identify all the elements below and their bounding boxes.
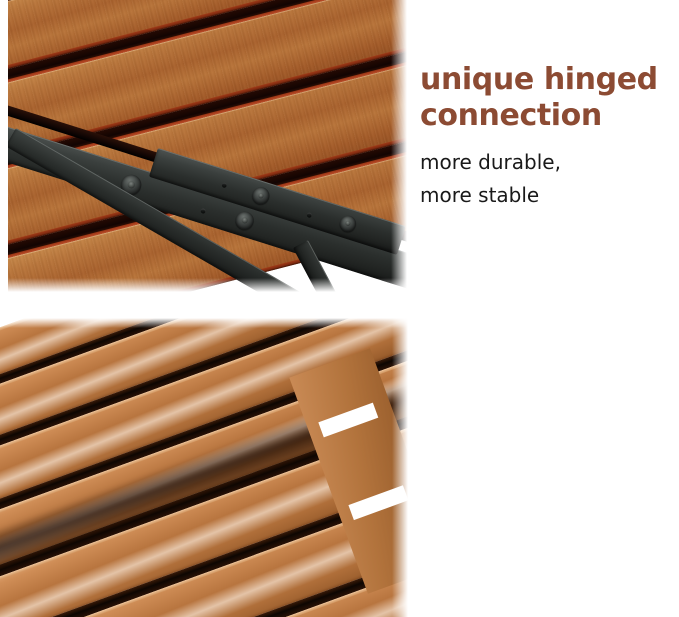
rail-bolt-hole [221, 182, 227, 188]
rail-bolt-hole [200, 208, 206, 214]
hinge-pivot-joint [233, 209, 256, 232]
copper-slat-scene [0, 318, 408, 617]
bungee-cord-panel: other products bungee cord connection [0, 318, 679, 617]
hinged-connection-text: unique hinged connection more durable, m… [420, 62, 675, 212]
hinge-pivot-joint [250, 185, 271, 206]
page-headline: unique hinged connection [420, 62, 675, 134]
hinge-rail-assembly [8, 0, 407, 292]
bungee-cord-photo [0, 318, 408, 617]
wood-table-scene [8, 0, 407, 292]
subline-line-1: more durable, [420, 146, 675, 179]
rail-bolt-hole [306, 212, 312, 218]
headline-subtext: more durable, more stable [420, 146, 675, 212]
product-feature-comparison-page: unique hinged connection more durable, m… [0, 0, 679, 617]
hinge-rail-primary [8, 120, 407, 292]
hinged-connection-photo [8, 0, 407, 292]
headline-line-1: unique hinged [420, 62, 675, 98]
headline-line-2: connection [420, 98, 675, 134]
hinged-connection-panel: unique hinged connection more durable, m… [0, 0, 679, 300]
subline-line-2: more stable [420, 179, 675, 212]
hinge-pivot-joint [338, 214, 358, 234]
